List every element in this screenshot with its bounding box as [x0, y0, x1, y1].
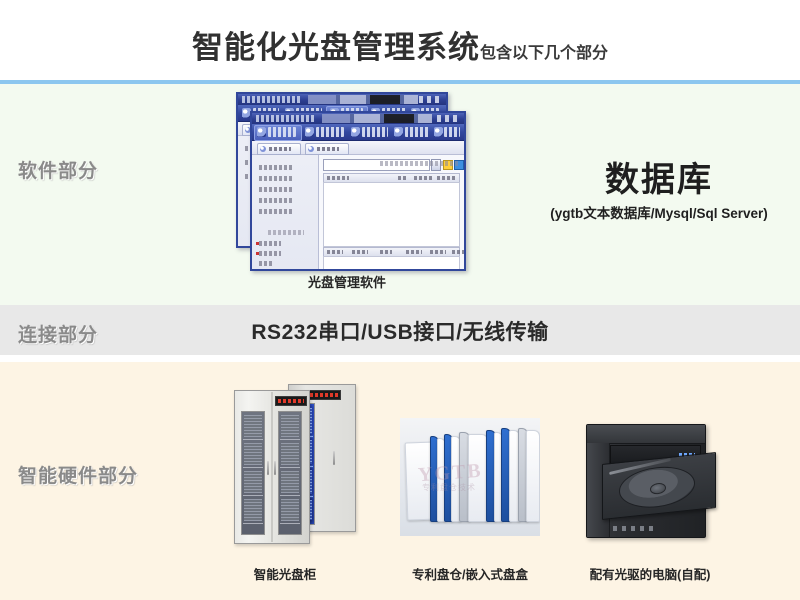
section-label-hardware: 智能硬件部分 — [18, 461, 138, 488]
toolbar-label-query-front — [444, 127, 460, 137]
database-subtitle: (ygtb文本数据库/Mysql/Sql Server) — [520, 202, 798, 222]
subtab-disc-manage-front — [257, 143, 301, 155]
left-field-row-5 — [259, 209, 293, 214]
pc-front-ports — [613, 526, 653, 531]
window-control-buttons — [419, 96, 443, 103]
tray-watermark-sub: 专利盘仓技术 — [422, 482, 476, 493]
page-header: 智能化光盘管理系统包含以下几个部分 — [0, 0, 800, 80]
window-tab-strip-front — [322, 114, 432, 123]
page-title-main: 智能化光盘管理系统 — [192, 30, 480, 65]
cabinet-led-display-2 — [307, 390, 341, 400]
grid2-col-3 — [380, 250, 392, 254]
subtab-text-a2 — [269, 147, 291, 151]
caption-pc-with-drive: 配有光驱的电脑(自配) — [570, 564, 730, 583]
grid2-col-2 — [352, 250, 368, 254]
grid-col-1 — [327, 176, 349, 180]
connection-text: RS232串口/USB接口/无线传输 — [0, 316, 800, 346]
grid-body-bottom[interactable] — [323, 256, 460, 271]
subtab-icon-b2 — [308, 146, 314, 152]
optical-drive-tray-open — [602, 452, 716, 520]
cabinet-primary — [234, 390, 310, 544]
subtab-disc-borrow-front — [305, 143, 349, 155]
left-field-row-2 — [259, 176, 293, 181]
cabinet-handle-2 — [333, 451, 335, 465]
caption-disc-tray: 专利盘仓/嵌入式盘盒 — [395, 564, 545, 583]
section-label-software: 软件部分 — [18, 156, 98, 183]
infographic-page: 智能化光盘管理系统包含以下几个部分 软件部分 连接部分 智能硬件部分 — [0, 0, 800, 600]
toolbar-icon-settings-front — [394, 127, 403, 137]
window-left-pane-front — [252, 155, 319, 271]
grid2-col-6 — [452, 250, 464, 254]
toolbar-icon-import-front — [257, 127, 266, 137]
software-caption: 光盘管理软件 — [222, 272, 472, 291]
cabinet-led-display-1 — [275, 396, 307, 406]
cabinet-glass-door-left — [241, 411, 265, 535]
window-toolbar-front — [252, 124, 464, 141]
window-body-front — [252, 155, 464, 271]
grid2-col-1 — [327, 250, 343, 254]
optical-disc-well — [619, 463, 695, 511]
left-field-row-7 — [259, 251, 281, 256]
toolbar-label-import-front — [268, 127, 296, 137]
grid-col-2 — [398, 176, 408, 180]
grid-body-top[interactable] — [323, 182, 460, 247]
left-field-row-4 — [259, 198, 293, 203]
search-bar — [323, 159, 460, 170]
grid-col-3 — [414, 176, 432, 180]
pc-with-drive-image — [578, 418, 720, 538]
tray-photo-background: YGTB 专利盘仓技术 — [400, 418, 540, 536]
grid2-col-5 — [430, 250, 446, 254]
disc-tray-image: YGTB 专利盘仓技术 — [400, 418, 540, 536]
left-field-row-3 — [259, 187, 293, 192]
subtab-text-b2 — [317, 147, 339, 151]
disc-cabinet-image — [218, 378, 358, 550]
software-screenshot-group — [222, 92, 472, 270]
left-field-row-6 — [259, 241, 281, 246]
pc-top-panel — [587, 425, 705, 444]
window-titlebar-front — [252, 113, 464, 124]
caption-disc-cabinet: 智能光盘柜 — [205, 564, 365, 583]
database-title: 数据库 — [520, 160, 798, 200]
software-window-front — [250, 111, 466, 271]
toolbar-icon-export-front — [305, 127, 314, 137]
left-pane-note — [268, 230, 304, 235]
page-title-sub: 包含以下几个部分 — [480, 45, 608, 62]
window-titlebar — [238, 94, 446, 105]
window-subtab-bar-front — [252, 141, 464, 155]
database-block: 数据库 (ygtb文本数据库/Mysql/Sql Server) — [520, 160, 798, 222]
window-caption-text-front — [256, 115, 316, 122]
toolbar-label-export-front — [316, 127, 344, 137]
window-right-pane-front — [319, 155, 464, 271]
subtab-icon-a2 — [260, 146, 266, 152]
band-separator — [0, 355, 800, 362]
cabinet-handle-right — [274, 461, 276, 475]
cabinet-glass-door-right — [278, 411, 302, 535]
cabinet-door-divider — [271, 392, 273, 542]
window-control-buttons-front — [437, 115, 461, 122]
optical-disc-spindle — [650, 482, 666, 495]
toolbar-label-borrow-front — [362, 127, 388, 137]
page-title: 智能化光盘管理系统包含以下几个部分 — [0, 22, 800, 67]
toolbar-icon-query-front — [434, 127, 443, 137]
cabinet-handle-left — [267, 461, 269, 475]
grid-col-4 — [437, 176, 455, 180]
toolbar-icon-borrow-front — [351, 127, 360, 137]
toolbar-label-settings-front — [405, 127, 429, 137]
left-field-row-8 — [259, 261, 273, 266]
window-caption-text — [242, 96, 302, 103]
tray-card-13 — [526, 430, 540, 522]
grid2-col-4 — [406, 250, 422, 254]
left-field-row-1 — [259, 165, 293, 170]
search-hint-text — [380, 161, 458, 166]
window-tab-strip — [308, 95, 418, 104]
